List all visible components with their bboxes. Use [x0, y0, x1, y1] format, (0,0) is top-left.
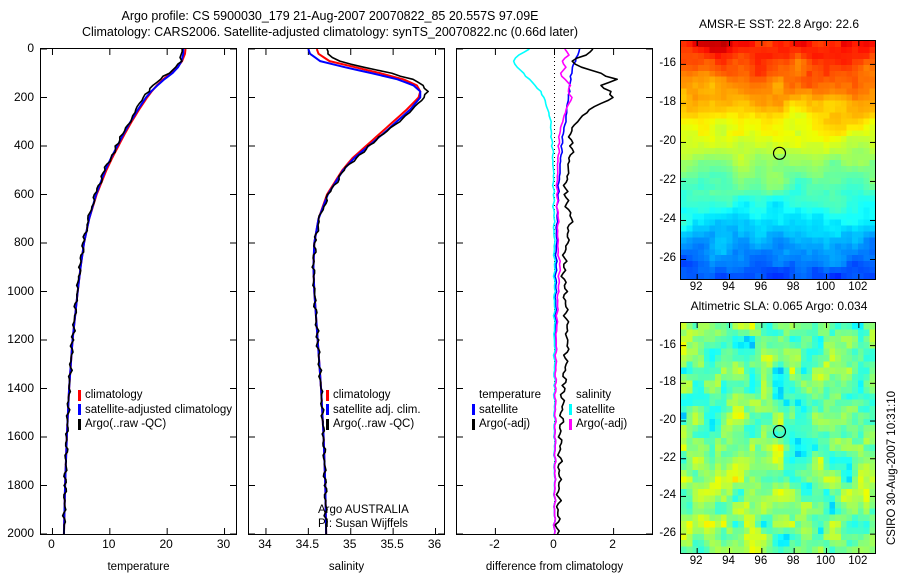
legend-color-swatch: [78, 390, 81, 401]
legend-item: satellite adj. clim.: [326, 403, 421, 418]
axis-tick-label: -20: [646, 135, 676, 147]
sst-map-image: [681, 41, 875, 279]
salinity-plot-area: [249, 49, 444, 534]
legend-column-header: salinity: [569, 388, 627, 403]
temperature-plot-area: [41, 49, 236, 534]
legend-item: satellite: [569, 403, 627, 418]
legend-color-swatch: [569, 404, 572, 415]
axis-tick-label: 1800: [0, 478, 34, 492]
axis-tick-label: 1200: [0, 332, 34, 346]
legend-item-label: climatology: [85, 388, 143, 403]
axis-tick-label: -16: [646, 339, 676, 351]
axis-tick-label: 100: [816, 281, 835, 293]
axis-tick-label: 800: [0, 235, 34, 249]
axis-tick-label: 35: [343, 537, 356, 551]
axis-tick-label: 36: [428, 537, 441, 551]
legend-item: Argo(..raw -QC): [326, 417, 421, 432]
axis-tick-label: -24: [646, 213, 676, 225]
axis-tick-label: 1600: [0, 429, 34, 443]
legend-item-label: climatology: [333, 388, 391, 403]
axis-tick-label: 92: [690, 281, 703, 293]
legend-column-header: temperature: [472, 388, 541, 403]
axis-tick-label: 100: [816, 555, 835, 567]
axis-tick-label: 102: [848, 555, 867, 567]
sla-map-panel: [680, 322, 876, 554]
axis-tick-label: 96: [754, 281, 767, 293]
axis-tick-label: 20: [159, 537, 172, 551]
axis-tick-label: 0: [550, 537, 557, 551]
axis-tick-label: 0: [0, 41, 34, 55]
argo-credit: Argo AUSTRALIA PI: Susan Wijffels: [318, 503, 409, 531]
axis-tick-label: 98: [787, 555, 800, 567]
axis-tick-label: 98: [787, 281, 800, 293]
axis-tick-label: -16: [646, 57, 676, 69]
title-line-1: Argo profile: CS 5900030_179 21-Aug-2007…: [0, 8, 660, 24]
legend-item-label: satellite: [576, 403, 615, 418]
title-line-2: Climatology: CARS2006. Satellite-adjuste…: [0, 24, 660, 40]
axis-tick-label: 0: [48, 537, 55, 551]
sst-map-title: AMSR-E SST: 22.8 Argo: 22.6: [672, 17, 886, 31]
axis-tick-label: 34: [258, 537, 271, 551]
sst-map-panel: [680, 40, 876, 280]
legend-item-label: satellite: [479, 403, 518, 418]
axis-tick-label: 1400: [0, 381, 34, 395]
salinity-legend: climatologysatellite adj. clim.Argo(..ra…: [326, 388, 421, 432]
legend-item-label: satellite adj. clim.: [333, 403, 421, 418]
axis-tick-label: 400: [0, 138, 34, 152]
legend-item-label: satellite-adjusted climatology: [85, 403, 232, 418]
legend-color-swatch: [326, 404, 329, 415]
csiro-timestamp: CSIRO 30-Aug-2007 10:31:10: [886, 391, 898, 545]
axis-tick-label: 94: [722, 281, 735, 293]
axis-tick-label: -26: [646, 252, 676, 264]
legend-color-swatch: [472, 404, 475, 415]
temperature-legend: climatologysatellite-adjusted climatolog…: [78, 388, 232, 432]
legend-column: temperaturesatelliteArgo(-adj): [472, 388, 541, 432]
axis-tick-label: 35.5: [380, 537, 403, 551]
legend-item: Argo(-adj): [569, 417, 627, 432]
credit-line-2: PI: Susan Wijffels: [318, 517, 409, 531]
axis-tick-label: 30: [217, 537, 230, 551]
difference-axis-label: difference from climatology: [456, 561, 653, 573]
legend-color-swatch: [472, 419, 475, 430]
salinity-axis-label: salinity: [248, 561, 445, 573]
axis-tick-label: -22: [646, 174, 676, 186]
axis-tick-label: -18: [646, 96, 676, 108]
legend-item-label: Argo(..raw -QC): [333, 417, 414, 432]
axis-tick-label: 600: [0, 187, 34, 201]
axis-tick-label: 34.5: [296, 537, 319, 551]
legend-item: climatology: [78, 388, 232, 403]
axis-tick-label: -20: [646, 414, 676, 426]
axis-tick-label: 94: [722, 555, 735, 567]
temperature-profile-panel: [40, 48, 237, 535]
legend-item-label: Argo(-adj): [479, 417, 530, 432]
difference-profile-panel: [456, 48, 653, 535]
axis-tick-label: -26: [646, 527, 676, 539]
axis-tick-label: 1000: [0, 284, 34, 298]
legend-column: salinitysatelliteArgo(-adj): [569, 388, 627, 432]
legend-item: Argo(-adj): [472, 417, 541, 432]
legend-item: Argo(..raw -QC): [78, 417, 232, 432]
axis-tick-label: 102: [848, 281, 867, 293]
axis-tick-label: -24: [646, 489, 676, 501]
axis-tick-label: 10: [102, 537, 115, 551]
legend-item-label: Argo(-adj): [576, 417, 627, 432]
difference-legend: temperaturesatelliteArgo(-adj)salinitysa…: [472, 388, 627, 432]
salinity-profile-panel: [248, 48, 445, 535]
difference-plot-area: [457, 49, 652, 534]
legend-color-swatch: [326, 390, 329, 401]
axis-tick-label: -22: [646, 452, 676, 464]
axis-tick-label: 96: [754, 555, 767, 567]
axis-tick-label: 200: [0, 90, 34, 104]
legend-item: satellite-adjusted climatology: [78, 403, 232, 418]
temperature-axis-label: temperature: [40, 561, 237, 573]
legend-color-swatch: [569, 419, 572, 430]
legend-item: climatology: [326, 388, 421, 403]
legend-color-swatch: [78, 404, 81, 415]
axis-tick-label: 92: [690, 555, 703, 567]
legend-item-label: Argo(..raw -QC): [85, 417, 166, 432]
axis-tick-label: -18: [646, 376, 676, 388]
axis-tick-label: -2: [489, 537, 500, 551]
axis-tick-label: 2: [609, 537, 616, 551]
page-title: Argo profile: CS 5900030_179 21-Aug-2007…: [0, 8, 660, 40]
legend-color-swatch: [326, 419, 329, 430]
legend-item: satellite: [472, 403, 541, 418]
axis-tick-label: 2000: [0, 526, 34, 540]
credit-line-1: Argo AUSTRALIA: [318, 503, 409, 517]
legend-color-swatch: [78, 419, 81, 430]
sla-map-title: Altimetric SLA: 0.065 Argo: 0.034: [672, 299, 886, 313]
sla-map-image: [681, 323, 875, 553]
